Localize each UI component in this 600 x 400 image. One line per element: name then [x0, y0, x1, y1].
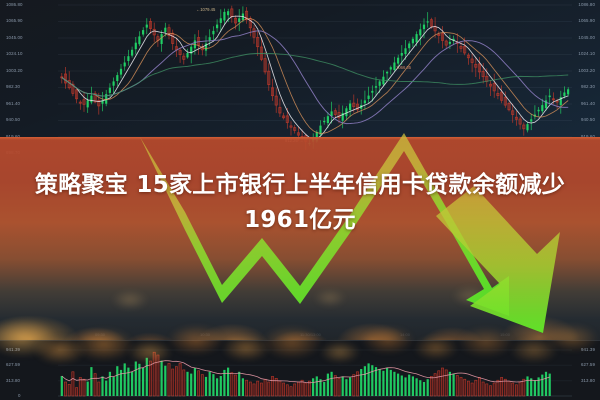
screenshot-root: 1086.801065.901045.001024.101003.20982.3…	[0, 0, 600, 400]
headline-line-1: 策略聚宝 15家上市银行上半年信用卡贷款余额减少	[0, 168, 600, 203]
headline-line-2: 1961亿元	[0, 203, 600, 238]
page-title: 策略聚宝 15家上市银行上半年信用卡贷款余额减少 1961亿元	[0, 168, 600, 238]
